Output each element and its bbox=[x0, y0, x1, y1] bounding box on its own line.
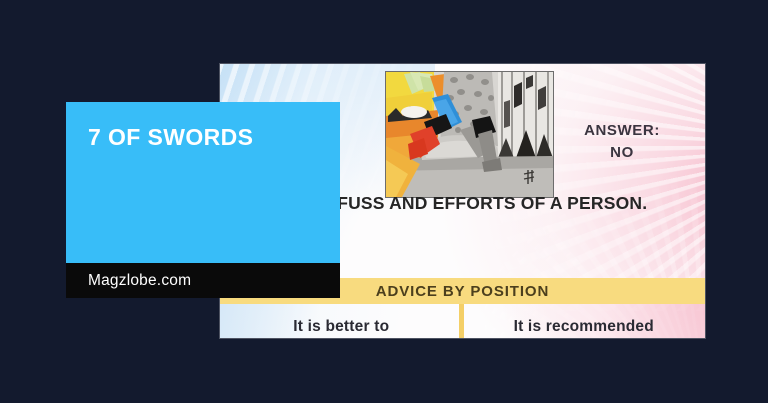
advice-column-right: It is recommended bbox=[463, 304, 706, 338]
source-bar: Magzlobe.com bbox=[66, 263, 340, 298]
page-title: 7 OF SWORDS bbox=[88, 124, 324, 150]
screenshot-stage: ANSWER: NO OT OF FUSS AND EFFORTS OF A P… bbox=[0, 0, 768, 403]
advice-column-divider bbox=[459, 304, 464, 338]
source-label: Magzlobe.com bbox=[88, 272, 191, 290]
answer-label: ANSWER: bbox=[561, 120, 683, 142]
answer-value: NO bbox=[561, 142, 683, 164]
advice-band-label: ADVICE BY POSITION bbox=[376, 283, 549, 300]
advice-column-right-text: It is recommended bbox=[463, 318, 706, 336]
tarot-card-artwork-svg bbox=[386, 72, 553, 197]
answer-block: ANSWER: NO bbox=[561, 120, 683, 164]
tarot-card-artwork bbox=[386, 72, 553, 197]
advice-column-left-text: It is better to bbox=[220, 318, 463, 336]
advice-column-left: It is better to bbox=[220, 304, 463, 338]
tarot-card-illustration bbox=[385, 71, 554, 198]
title-tile: 7 OF SWORDS bbox=[66, 102, 340, 263]
